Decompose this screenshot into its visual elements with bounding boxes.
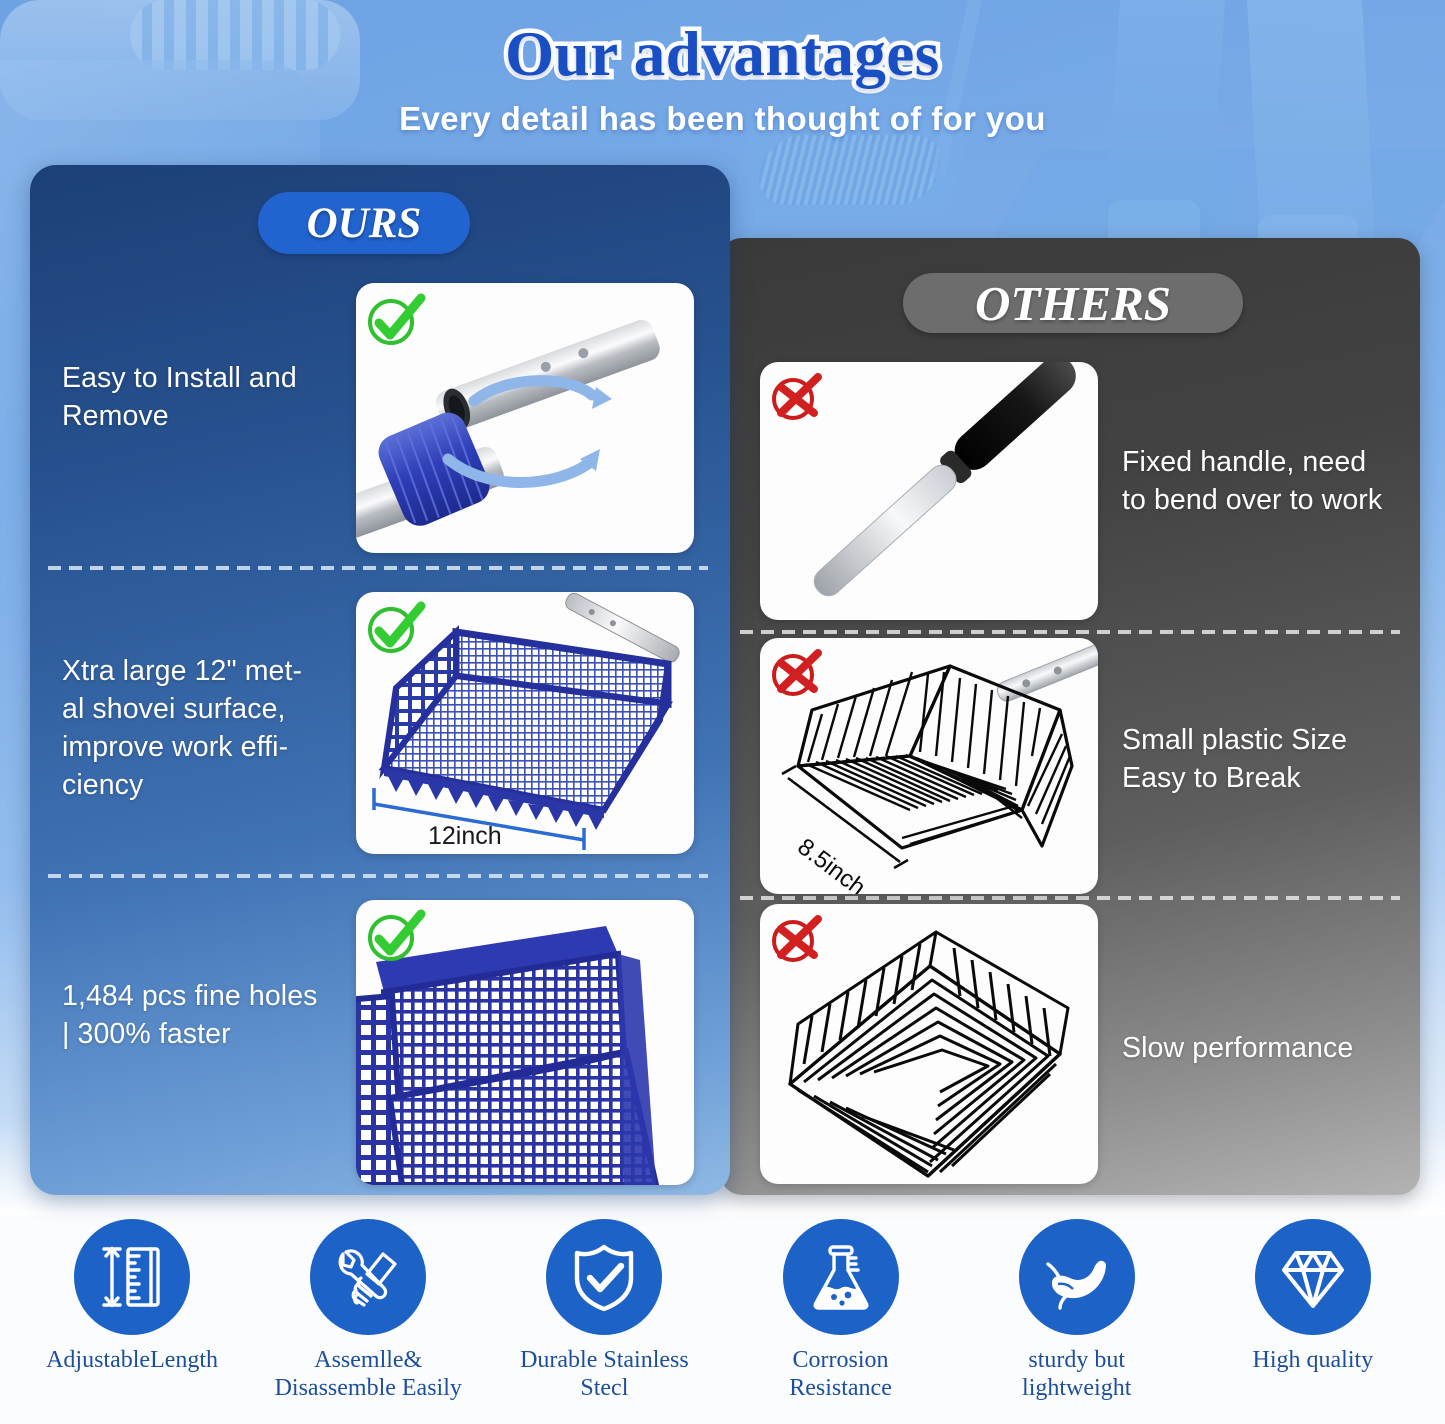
feather-icon	[1040, 1240, 1114, 1314]
footer-label-durable-steel: Durable StainlessStecl	[520, 1347, 689, 1403]
others-feature-1-text: Fixed handle, needto bend over to work	[1122, 444, 1412, 520]
flask-icon-background	[783, 1219, 899, 1335]
cross-icon	[768, 646, 824, 705]
footer-label-adjustable-length: AdjustableLength	[46, 1347, 218, 1375]
footer-item-high-quality[interactable]: High quality	[1197, 1215, 1429, 1375]
cross-icon	[768, 912, 824, 971]
diamond-icon-background	[1255, 1219, 1371, 1335]
others-feature-3-text: Slow performance	[1122, 1030, 1414, 1068]
shield-check-icon-background	[546, 1219, 662, 1335]
wrench-hand-icon-background	[310, 1219, 426, 1335]
ours-feature-2-text: Xtra large 12" met-al shovei surface,imp…	[62, 653, 338, 805]
footer-item-durable-steel[interactable]: Durable StainlessStecl	[488, 1215, 720, 1403]
shield-check-icon	[567, 1240, 641, 1314]
ours-divider-2	[48, 874, 708, 878]
ours-measure-label: 12inch	[428, 822, 502, 850]
others-divider-2	[740, 896, 1400, 900]
background-rake-mesh	[751, 135, 948, 205]
others-badge: OTHERS	[903, 273, 1243, 333]
feather-icon-background	[1019, 1219, 1135, 1335]
ours-badge: OURS	[258, 192, 470, 254]
footer-label-corrosion: CorrosionResistance	[789, 1347, 892, 1403]
page-subtitle: Every detail has been thought of for you	[0, 100, 1445, 138]
others-divider-1	[740, 630, 1400, 634]
page-title: Our advantages	[0, 18, 1445, 91]
footer-item-adjustable-length[interactable]: AdjustableLength	[16, 1215, 248, 1375]
others-measure-label: 8.5inch	[792, 833, 870, 894]
footer-label-lightweight: sturdy butlightweight	[1022, 1347, 1131, 1403]
diamond-icon	[1276, 1240, 1350, 1314]
ours-divider-1	[48, 566, 708, 570]
footer-item-corrosion[interactable]: CorrosionResistance	[725, 1215, 957, 1403]
cross-icon	[768, 370, 824, 429]
feature-icons-bar: AdjustableLength Assemlle&Disassemble Ea…	[0, 1215, 1445, 1424]
check-icon	[364, 908, 426, 971]
others-feature-2-text: Small plastic SizeEasy to Break	[1122, 722, 1414, 798]
ruler-icon-background	[74, 1219, 190, 1335]
wrench-hand-icon	[331, 1240, 405, 1314]
footer-label-assemble: Assemlle&Disassemble Easily	[275, 1347, 462, 1403]
footer-label-high-quality: High quality	[1253, 1347, 1374, 1375]
ours-feature-1-text: Easy to Install and Remove	[62, 360, 334, 436]
ruler-icon	[95, 1240, 169, 1314]
flask-icon	[804, 1240, 878, 1314]
ours-feature-3-text: 1,484 pcs fine holes| 300% faster	[62, 978, 352, 1054]
check-icon	[364, 292, 426, 355]
footer-item-assemble[interactable]: Assemlle&Disassemble Easily	[252, 1215, 484, 1403]
footer-item-lightweight[interactable]: sturdy butlightweight	[961, 1215, 1193, 1403]
check-icon	[364, 600, 426, 663]
